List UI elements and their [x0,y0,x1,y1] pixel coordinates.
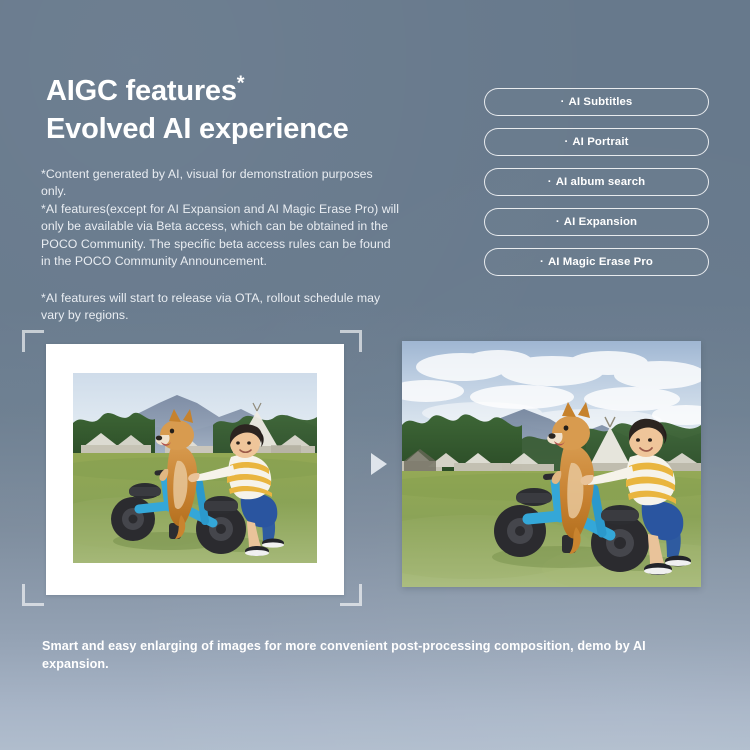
bullet-icon: · [548,176,552,188]
feature-pill-list: · AI Subtitles · AI Portrait · AI album … [484,88,709,276]
bullet-icon: · [540,256,544,268]
slide-root: AIGC features* Evolved AI experience *Co… [0,0,750,750]
after-photo [402,341,701,587]
feature-pill-ai-subtitles[interactable]: · AI Subtitles [484,88,709,116]
bullet-icon: · [556,216,560,228]
campsite-scene-original [73,373,317,563]
before-photo [73,373,317,563]
feature-pill-ai-magic-erase-pro[interactable]: · AI Magic Erase Pro [484,248,709,276]
arrow-right-icon [371,453,387,475]
headline-line-1: AIGC features* [46,72,446,110]
comparison-caption: Smart and easy enlarging of images for m… [42,637,662,674]
bullet-icon: · [564,136,568,148]
campsite-scene-expanded [402,341,701,587]
corner-bracket-bottom-left-icon [22,584,44,606]
asterisk-marker: * [237,72,245,94]
before-image-frame [22,330,362,606]
disclaimer-note-3: *AI features will start to release via O… [41,290,401,325]
feature-pill-ai-expansion[interactable]: · AI Expansion [484,208,709,236]
feature-pill-label: AI Expansion [564,216,637,228]
photo-mat [46,344,344,595]
disclaimer-note-1: *Content generated by AI, visual for dem… [41,166,401,201]
feature-pill-label: AI Portrait [572,136,628,148]
bullet-icon: · [561,96,565,108]
feature-pill-ai-portrait[interactable]: · AI Portrait [484,128,709,156]
page-title: AIGC features* Evolved AI experience [46,72,446,149]
feature-pill-label: AI album search [556,176,646,188]
feature-pill-label: AI Subtitles [569,96,633,108]
headline-line-1-text: AIGC features [46,75,237,107]
corner-bracket-top-left-icon [22,330,44,352]
headline-line-2: Evolved AI experience [46,110,446,148]
disclaimer-note-2: *AI features(except for AI Expansion and… [41,201,401,271]
feature-pill-ai-album-search[interactable]: · AI album search [484,168,709,196]
feature-pill-label: AI Magic Erase Pro [548,256,653,268]
